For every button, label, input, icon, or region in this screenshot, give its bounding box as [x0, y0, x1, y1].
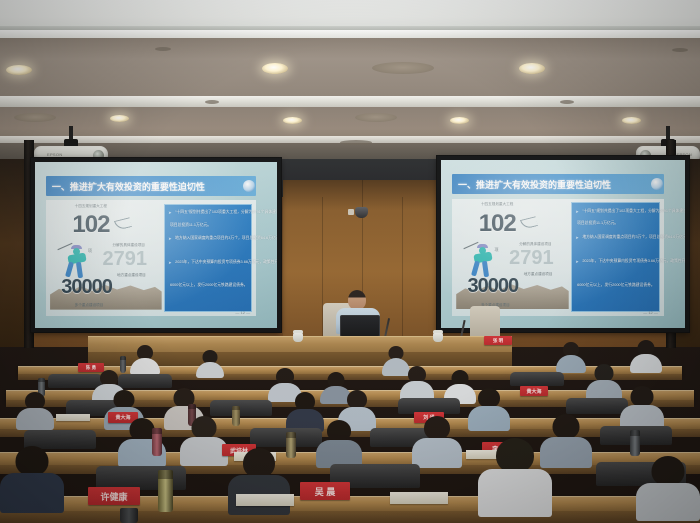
ceiling-downlight: [622, 117, 641, 124]
ceiling-vent: [14, 113, 56, 122]
kpi-value-1: 102: [72, 211, 109, 239]
person-head: [424, 416, 450, 440]
audience-person: [412, 416, 462, 466]
slide-bullet-2: 项目总投资11.1万亿元。: [170, 223, 211, 228]
audience-person: [630, 340, 662, 372]
slide-left: 一、推进扩大有效投资的重要性迫切性 十四五规划重大工程 102 项 分解的具体建…: [35, 162, 277, 328]
slide-bullet-5: 6000亿元以上，发行2000亿元铁路建设债券。: [170, 283, 248, 288]
ceiling-vent-small: [672, 48, 688, 52]
bottle-cap: [630, 430, 640, 436]
climber-leg: [471, 261, 480, 277]
person-head: [192, 416, 217, 439]
seat-back: [210, 400, 272, 416]
bottle-cap: [232, 406, 240, 410]
nameplate-text: 许健康: [100, 490, 127, 503]
slide-body: 十四五规划重大工程 102 项 分解的具体建设项目 2791 地方重点建设项目: [452, 199, 664, 317]
ceiling-vent-small: [205, 100, 219, 104]
audience-person: [400, 366, 434, 400]
kpi-caption-3: 地方重点建设项目: [524, 272, 553, 277]
person-body: [412, 438, 462, 468]
slide-infographic: 十四五规划重大工程 102 项 分解的具体建设项目 2791 地方重点建设项目: [456, 201, 569, 314]
bullet-marker: ➤: [575, 259, 578, 264]
slide-title-bar: 一、推进扩大有效投资的重要性迫切性: [46, 176, 257, 196]
spare-chair-right: [470, 306, 500, 340]
person-head: [243, 448, 275, 478]
audience-person: [130, 345, 160, 373]
ceiling-band-upper: [0, 38, 700, 98]
lecture-hall-photo: EPSON EPSON 一、推进扩大有效投资的重要性迫切性 十四五规划重: [0, 0, 700, 523]
climber-pole: [57, 243, 72, 251]
ceiling-downlight: [110, 115, 129, 122]
person-body: [630, 354, 662, 373]
audience-person: [316, 420, 362, 466]
person-head: [130, 418, 155, 441]
person-body: [468, 406, 510, 431]
person-head: [553, 414, 580, 439]
thermos-bottle: [232, 406, 240, 426]
person-body: [636, 483, 700, 521]
slide-bullet-4: 2023年，下达中央预算内投资专项债券3.66万亿元，政策性开发性金融工具: [175, 260, 277, 265]
person-head: [327, 420, 351, 442]
kpi-value-2: 2791: [509, 247, 554, 270]
slide-bullet-1: “十四五”规划共提出了102项重大工程，分解为2791个具体建设项目，: [582, 209, 685, 214]
person-head: [478, 388, 500, 408]
ceiling-vent: [355, 113, 397, 122]
left-projection-screen[interactable]: 一、推进扩大有效投资的重要性迫切性 十四五规划重大工程 102 项 分解的具体建…: [35, 162, 277, 328]
person-body: [0, 473, 64, 513]
ceiling-lip-upper: [0, 96, 700, 107]
nameplate-text: 吴 晨: [315, 485, 336, 498]
org-logo-icon: [243, 180, 255, 192]
notebook: [56, 414, 90, 421]
audience-person: [196, 350, 224, 376]
notebook: [390, 492, 448, 504]
kpi-value-2: 2791: [103, 248, 148, 271]
slide-bullet-3: 地方纳入国家调度的重点项目约3万个，项目总投资64.6万亿元。: [175, 236, 277, 241]
nameplate: 黄大海: [520, 386, 548, 396]
person-head: [652, 456, 685, 486]
tea-cup: [293, 333, 303, 342]
slide-bullet-5: 6000亿元以上，发行2000亿元铁路建设债券。: [577, 283, 655, 288]
person-body: [196, 362, 224, 378]
seat-back: [566, 398, 628, 414]
left-screen-frame: 一、推进扩大有效投资的重要性迫切性 十四五规划重大工程 102 项 分解的具体建…: [31, 158, 281, 332]
audience-person: [556, 342, 586, 372]
nameplate: 张 明: [484, 336, 512, 345]
slide-infographic: 十四五规划重大工程 102 项 分解的具体建设项目 2791 地方重点建设项目: [50, 202, 162, 314]
kpi-value-1: 102: [479, 210, 516, 238]
slide-body: 十四五规划重大工程 102 项 分解的具体建设项目 2791 地方重点建设项目: [46, 200, 257, 316]
person-body: [130, 358, 160, 375]
nameplate-text: 张 明: [493, 338, 503, 344]
slide-bullet-4: 2023年，下达中央预算内投资专项债券3.66万亿元，政策性开发性金融工具: [582, 259, 685, 264]
ceiling-vent: [372, 62, 434, 74]
kpi-caption-2: 分解的具体建设项目: [519, 242, 551, 247]
thermos-bottle: [158, 470, 173, 512]
slide-title: 一、推进扩大有效投资的重要性迫切性: [46, 180, 205, 193]
thermos-bottle: [152, 428, 162, 456]
person-body: [180, 437, 228, 466]
audience-person: [180, 416, 228, 464]
person-body: [556, 355, 586, 373]
bullet-marker: ➤: [168, 210, 171, 215]
audience-person: [636, 456, 700, 518]
org-logo-icon: [651, 178, 663, 190]
bullet-marker: ➤: [575, 235, 578, 240]
kpi-caption-1: 十四五规划重大工程: [481, 202, 513, 207]
nameplate: 许健康: [88, 487, 140, 505]
thermos-bottle: [630, 430, 640, 456]
bullet-marker: ➤: [575, 209, 578, 214]
slide-bullet-3: 地方纳入国家调度的重点项目约3万个，项目总投资64.6万亿元。: [582, 235, 685, 240]
right-projection-screen[interactable]: 一、推进扩大有效投资的重要性迫切性 十四五规划重大工程 102 项 分解的具体建…: [441, 160, 685, 328]
bottle-cap: [158, 470, 173, 479]
slide-text-panel: ➤ “十四五”规划共提出了102项重大工程，分解为2791个具体建设项目， 项目…: [164, 204, 252, 312]
slide-page-number: — 12 —: [235, 310, 250, 315]
slide-page-number: — 12 —: [643, 310, 658, 315]
slide-bullet-1: “十四五”规划共提出了102项重大工程，分解为2791个具体建设项目，: [175, 210, 277, 215]
thermos-bottle: [120, 508, 138, 523]
slide-title: 一、推进扩大有效投资的重要性迫切性: [452, 178, 611, 191]
nameplate: 吴 晨: [300, 482, 350, 500]
person-body: [16, 408, 54, 430]
kpi-caption-3: 地方重点建设项目: [117, 273, 146, 278]
ceiling-vent-small: [560, 100, 574, 104]
ceiling-downlight: [6, 65, 32, 75]
slide-text-panel: ➤ “十四五”规划共提出了102项重大工程，分解为2791个具体建设项目， 项目…: [571, 202, 660, 311]
presenter-head: [348, 290, 366, 310]
bottle-cap: [38, 378, 45, 382]
person-body: [478, 469, 552, 517]
ceiling-downlight: [283, 117, 302, 124]
bottle-cap: [120, 356, 126, 360]
tea-cup: [433, 333, 443, 342]
nameplate-text: 黄大海: [526, 388, 541, 395]
ceiling-downlight: [262, 63, 288, 74]
projector-brand-label: EPSON: [47, 152, 63, 157]
ceiling-downlight: [519, 63, 545, 74]
audience-person: [478, 438, 552, 516]
bullet-marker: ➤: [168, 260, 171, 265]
bottle-cap: [286, 432, 296, 438]
slide-right: 一、推进扩大有效投资的重要性迫切性 十四五规划重大工程 102 项 分解的具体建…: [441, 160, 685, 328]
wood-seam: [402, 197, 403, 347]
kpi-value-3: 30000: [61, 276, 112, 299]
slide-bullet-2: 项目总投资11.1万亿元。: [577, 221, 618, 226]
audience-person: [0, 446, 64, 512]
bullet-marker: ➤: [168, 236, 171, 241]
person-head: [631, 386, 654, 407]
security-camera-icon: [355, 207, 368, 218]
person-head: [496, 438, 534, 473]
slide-footer-caption: 多个重点建设项目: [75, 303, 104, 308]
audience-person: [620, 386, 664, 430]
kpi-caption-2: 分解的具体建设项目: [113, 243, 145, 248]
seat-back: [118, 374, 172, 388]
slide-title-bar: 一、推进扩大有效投资的重要性迫切性: [452, 174, 664, 194]
kpi-value-3: 30000: [467, 275, 518, 298]
notebook: [236, 494, 294, 506]
kpi-arrow-1: [520, 216, 538, 230]
audience-person: [586, 364, 622, 400]
seat-back: [510, 372, 564, 386]
laptop-screen: [340, 315, 380, 337]
ceiling-downlight: [450, 117, 469, 124]
desk-row-front: [0, 511, 700, 523]
bottle-cap: [188, 404, 196, 409]
ceiling-soffit-edge: [0, 30, 700, 38]
ceiling-vent-small: [340, 140, 372, 145]
kpi-arrow-1: [114, 217, 132, 231]
ceiling-vent-small: [155, 47, 171, 51]
kpi-caption-1: 十四五规划重大工程: [75, 204, 107, 209]
person-head: [16, 446, 49, 476]
audience-person: [16, 392, 54, 428]
bottle-cap: [152, 428, 162, 434]
audience-person: [468, 388, 510, 430]
ceiling-skylight-panel: [0, 0, 700, 30]
